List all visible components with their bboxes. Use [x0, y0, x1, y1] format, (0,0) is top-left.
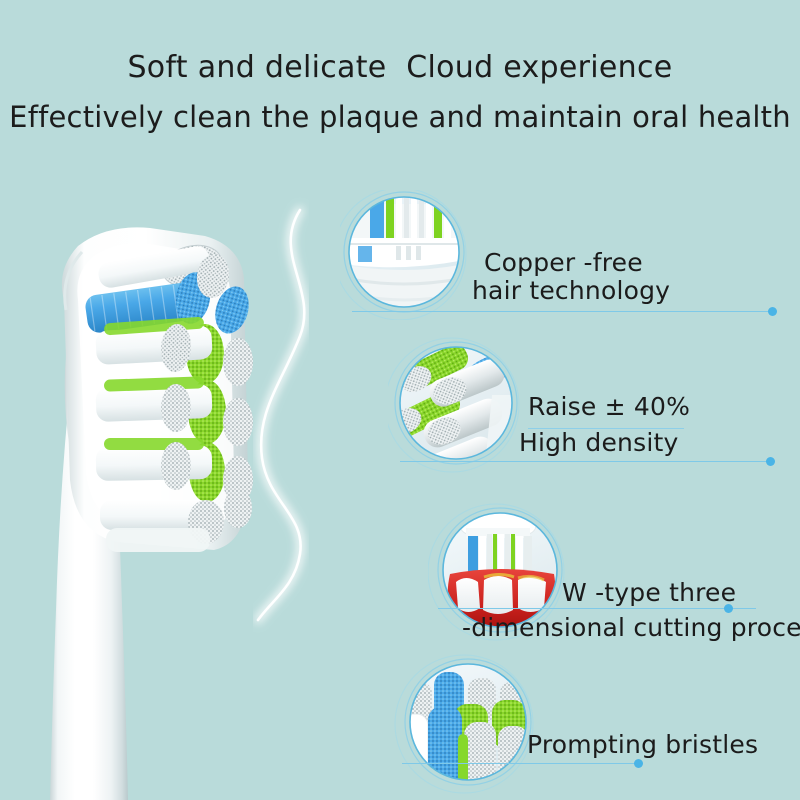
- callout-dot-w-type: [724, 604, 733, 613]
- callout-dot-high-density: [766, 457, 775, 466]
- callout-underline-prompting-bristles: [402, 763, 638, 764]
- callout-icon-copper-free: [340, 190, 480, 324]
- poster-canvas: Soft and delicate Cloud experience Effec…: [0, 0, 800, 800]
- callout-label-high-density-line2: High density: [519, 428, 678, 457]
- callout-underline-copper-free: [352, 311, 770, 312]
- headline-line-2: Effectively clean the plaque and maintai…: [0, 100, 800, 134]
- callout-dot-prompting-bristles: [634, 759, 643, 768]
- callout-dot-copper-free: [768, 307, 777, 316]
- callout-label-high-density-line1: Raise ± 40%: [528, 392, 690, 421]
- callout-label-w-type-line1: W -type three: [562, 578, 736, 607]
- callout-underline-high-density: [400, 461, 768, 462]
- callout-icon-high-density: [388, 335, 528, 479]
- toothbrush-illustration: [0, 150, 340, 800]
- callout-label-copper-free-line2: hair technology: [472, 276, 670, 305]
- callout-label-copper-free-line1: Copper -free: [484, 248, 643, 277]
- headline-line-1: Soft and delicate Cloud experience: [0, 50, 800, 85]
- callout-label-w-type-line2: -dimensional cutting process: [462, 613, 800, 642]
- callout-label-prompting-bristles: Prompting bristles: [527, 730, 758, 759]
- callout-icon-prompting-bristles: [392, 648, 544, 800]
- callout-underline-w-type: [438, 608, 756, 609]
